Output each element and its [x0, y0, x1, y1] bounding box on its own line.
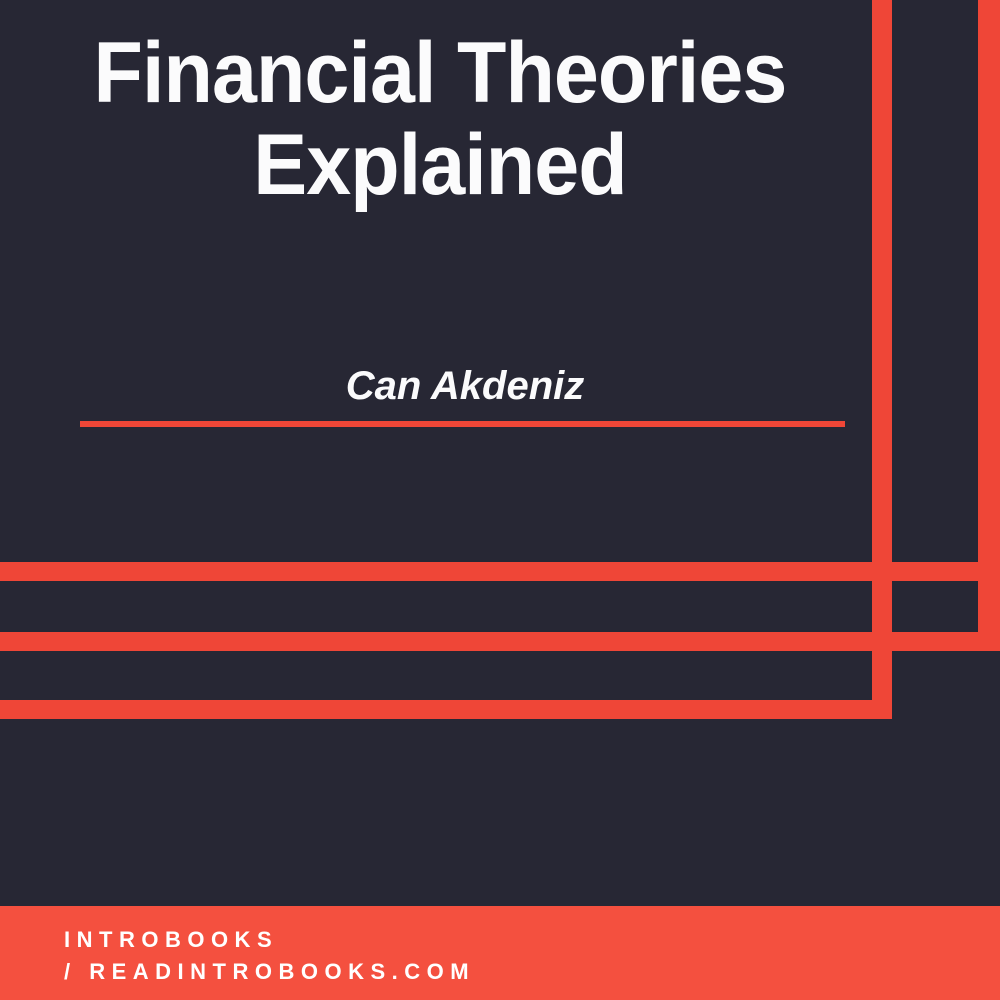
book-cover: Financial Theories Explained Can Akdeniz… [0, 0, 1000, 1000]
vertical-rule-outer [978, 0, 1000, 650]
horizontal-rule-bottom [0, 700, 892, 719]
author-underline-rule [80, 421, 845, 427]
book-title-line-1: Financial Theories [26, 30, 853, 116]
author-name: Can Akdeniz [346, 364, 585, 408]
horizontal-rule-middle [0, 632, 1000, 651]
book-title-line-2: Explained [26, 122, 853, 208]
publisher-name: INTROBOOKS [64, 924, 475, 956]
publisher-website: / READINTROBOOKS.COM [64, 956, 475, 988]
book-title: Financial Theories Explained [0, 30, 880, 208]
publisher-footer-text: INTROBOOKS / READINTROBOOKS.COM [64, 924, 475, 988]
publisher-footer-band: INTROBOOKS / READINTROBOOKS.COM [0, 906, 1000, 1000]
horizontal-rule-top [0, 562, 1000, 581]
author-block: Can Akdeniz [0, 364, 930, 408]
